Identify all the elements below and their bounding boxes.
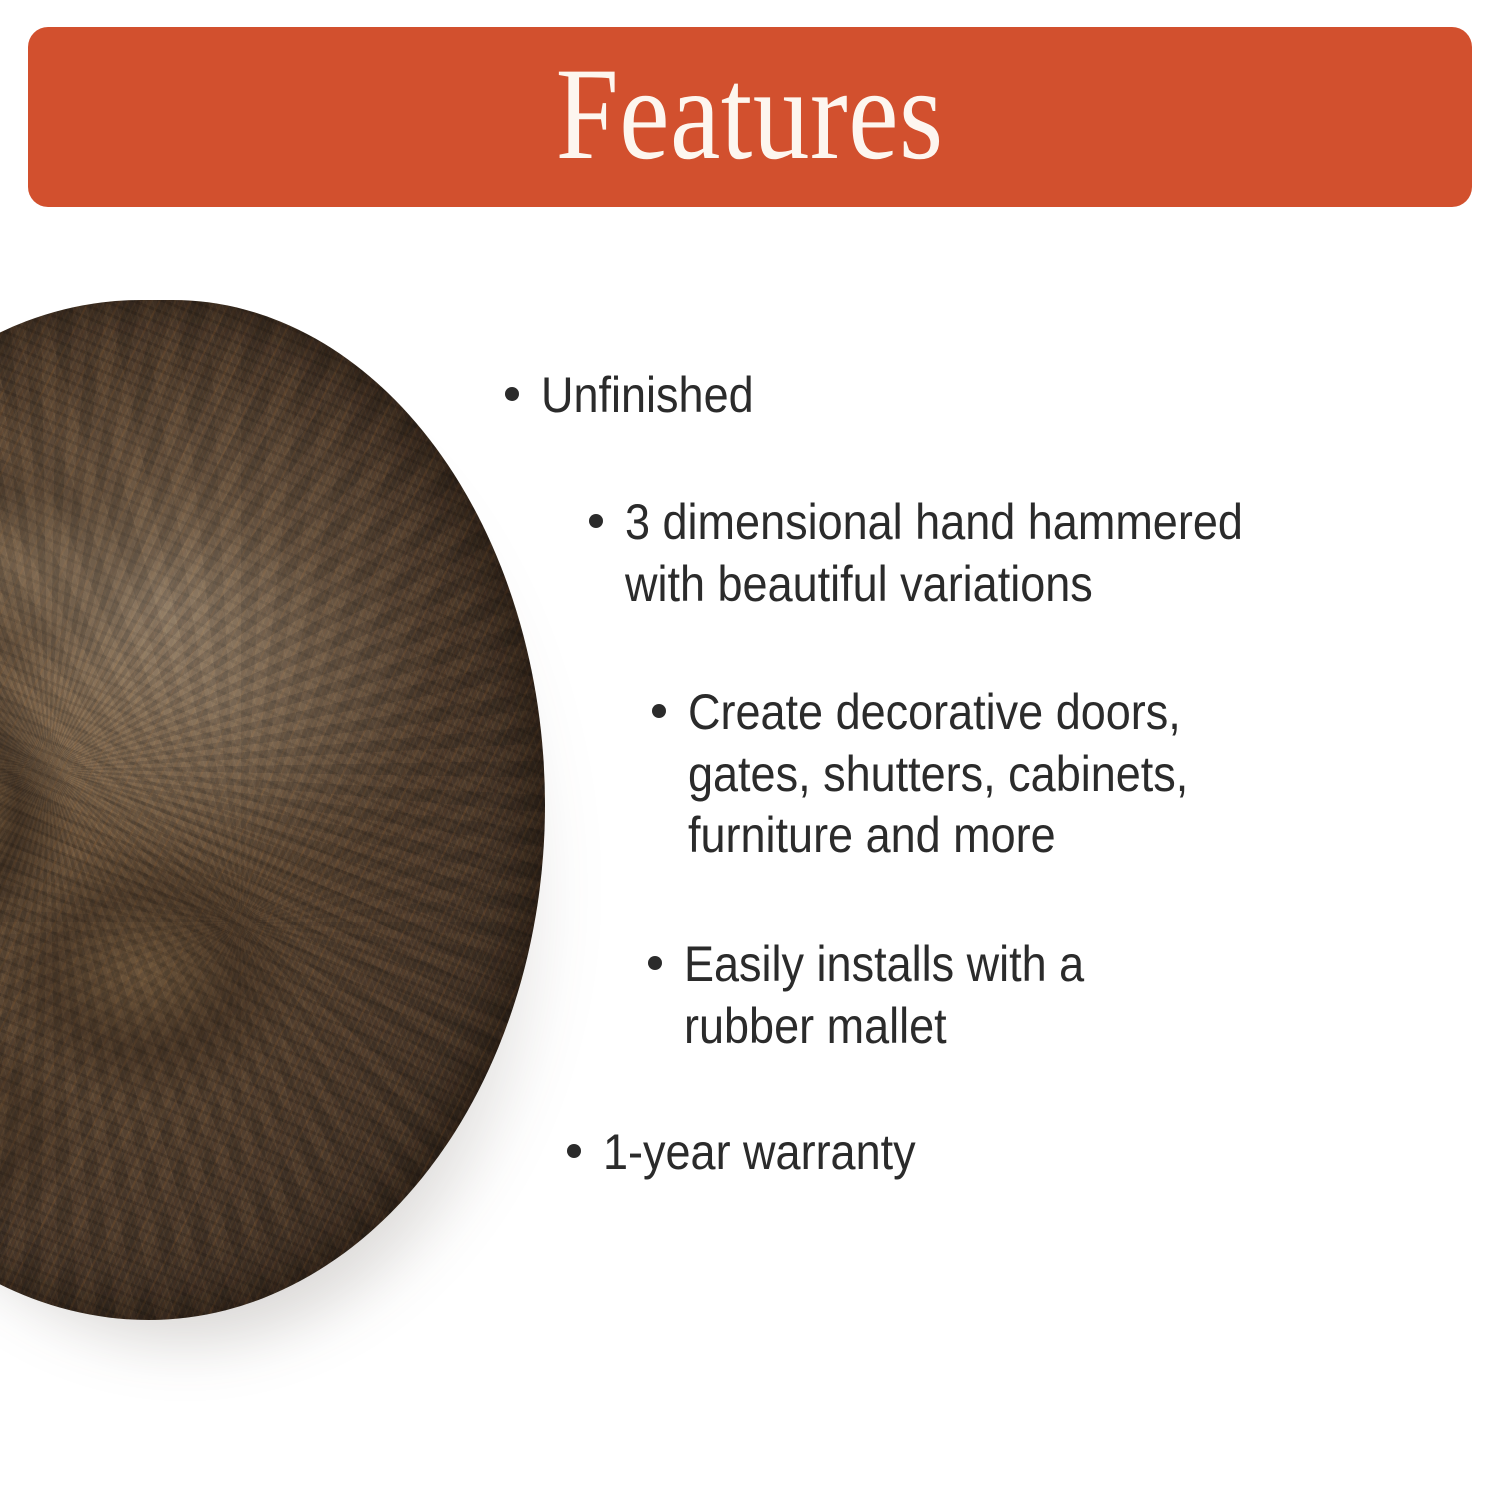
bullet-icon — [567, 1144, 581, 1158]
bullet-icon — [505, 387, 519, 401]
list-item-label: 3 dimensional hand hammered with beautif… — [625, 492, 1243, 615]
list-item: Unfinished — [505, 365, 777, 427]
bullet-icon — [648, 956, 662, 970]
list-item: 3 dimensional hand hammered with beautif… — [589, 492, 1312, 615]
list-item: 1-year warranty — [567, 1122, 950, 1184]
list-item-label: Unfinished — [541, 365, 754, 427]
list-item: Easily installs with a rubber mallet — [648, 934, 1129, 1057]
bullet-icon — [652, 704, 666, 718]
list-item-label: Easily installs with a rubber mallet — [684, 934, 1084, 1057]
bullet-icon — [589, 514, 603, 528]
list-item: Create decorative doors, gates, shutters… — [652, 682, 1244, 867]
feature-list: Unfinished 3 dimensional hand hammered w… — [0, 0, 1500, 1500]
features-infographic: Features Unfinished 3 dimensional hand h… — [0, 0, 1500, 1500]
list-item-label: Create decorative doors, gates, shutters… — [688, 682, 1188, 867]
list-item-label: 1-year warranty — [603, 1122, 916, 1184]
